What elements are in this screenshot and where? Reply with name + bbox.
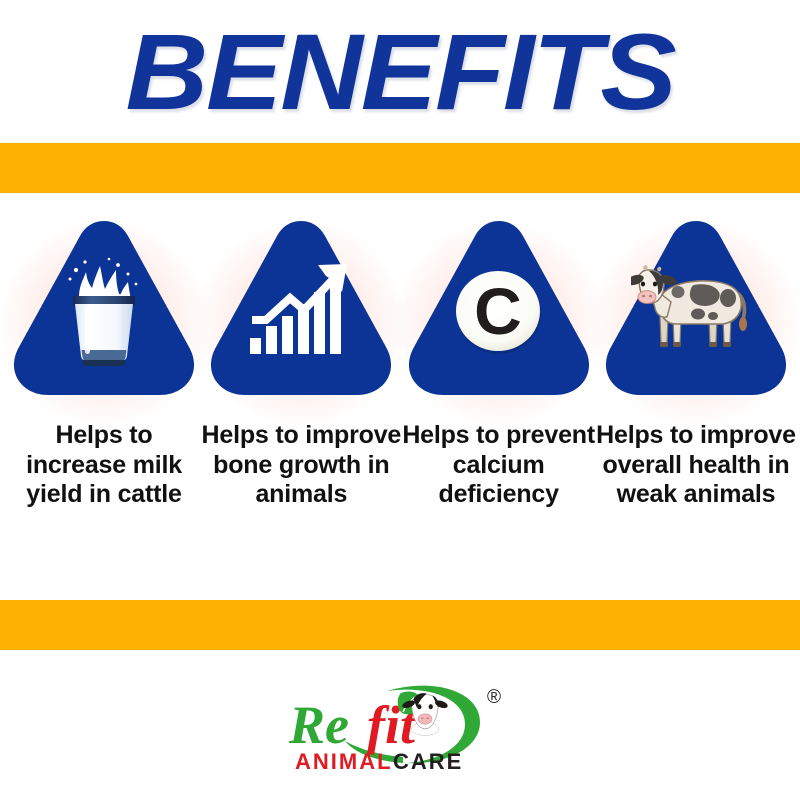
benefit-icon-tile-4 bbox=[601, 215, 791, 401]
benefit-card-calcium[interactable]: C Helps to prevent calcium deficiency bbox=[403, 215, 595, 590]
svg-text:CARE: CARE bbox=[393, 749, 463, 774]
svg-text:ANIMAL: ANIMAL bbox=[295, 749, 393, 774]
benefit-card-cow[interactable]: Helps to improve overall health in weak … bbox=[600, 215, 792, 590]
benefit-caption: Helps to improve bone growth in animals bbox=[201, 421, 401, 510]
refit-animal-care-logo[interactable]: Re fit ® ANIMAL CARE bbox=[275, 675, 525, 785]
benefit-icon-tile-2 bbox=[206, 215, 396, 401]
bottom-accent-bar bbox=[0, 600, 800, 650]
benefit-caption: Helps to improve overall health in weak … bbox=[596, 421, 796, 510]
title-area: BENEFITS bbox=[0, 0, 800, 143]
benefit-caption: Helps to increase milk yield in cattle bbox=[4, 421, 204, 510]
benefits-row: Helps to increase milk yield in cattle bbox=[0, 215, 800, 590]
poster-canvas: BENEFITS bbox=[0, 0, 800, 800]
top-accent-bar bbox=[0, 143, 800, 193]
svg-text:C: C bbox=[474, 274, 522, 348]
growth-chart-icon bbox=[241, 252, 361, 372]
svg-text:®: ® bbox=[487, 687, 501, 708]
calcium-c-icon: C bbox=[439, 252, 559, 372]
svg-text:Re: Re bbox=[288, 695, 349, 755]
page-title: BENEFITS bbox=[125, 18, 674, 126]
benefit-icon-tile-3: C bbox=[404, 215, 594, 401]
brand-logo-area: Re fit ® ANIMAL CARE bbox=[0, 660, 800, 800]
benefit-card-growth[interactable]: Helps to improve bone growth in animals bbox=[205, 215, 397, 590]
milk-glass-icon bbox=[44, 252, 164, 372]
benefit-card-milk[interactable]: Helps to increase milk yield in cattle bbox=[8, 215, 200, 590]
cow-icon bbox=[631, 258, 761, 358]
benefit-caption: Helps to prevent calcium deficiency bbox=[399, 421, 599, 510]
benefit-icon-tile-1 bbox=[9, 215, 199, 401]
